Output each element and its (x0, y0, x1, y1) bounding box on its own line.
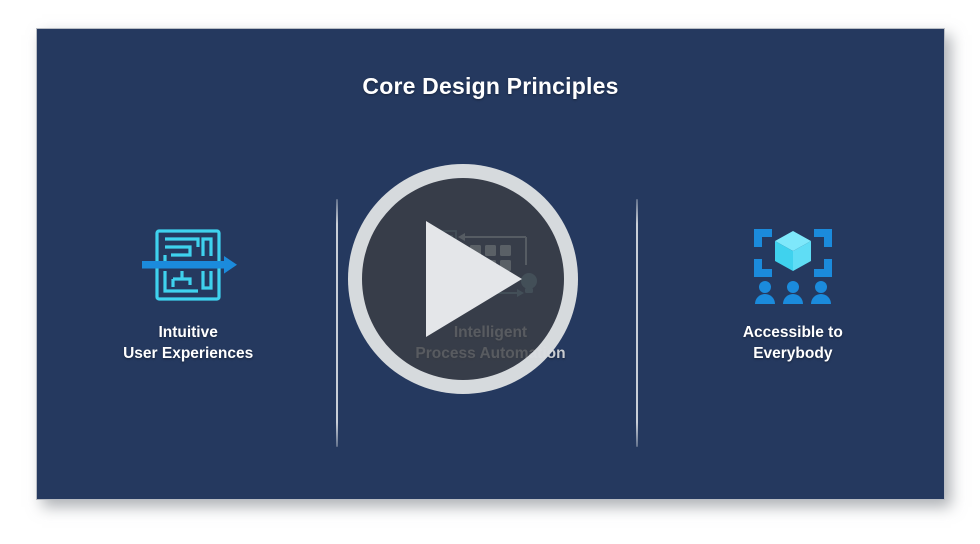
slide-stage: Core Design Principles (0, 0, 980, 544)
principle-label-line2: User Experiences (123, 344, 253, 365)
play-icon (426, 221, 522, 337)
page-title: Core Design Principles (37, 73, 944, 100)
principle-label-intuitive: Intuitive User Experiences (123, 323, 253, 365)
slide-panel: Core Design Principles (36, 28, 945, 500)
video-play-button[interactable] (348, 164, 578, 394)
principle-label-line1: Accessible to (743, 323, 843, 344)
principle-label-line2: Everybody (743, 344, 843, 365)
maze-arrow-icon (138, 219, 238, 311)
cube-people-icon (750, 219, 836, 311)
principle-item-accessible[interactable]: Accessible to Everybody (642, 219, 944, 365)
principle-item-intuitive[interactable]: Intuitive User Experiences (37, 219, 339, 365)
principle-label-line1: Intuitive (123, 323, 253, 344)
principle-label-accessible: Accessible to Everybody (743, 323, 843, 365)
